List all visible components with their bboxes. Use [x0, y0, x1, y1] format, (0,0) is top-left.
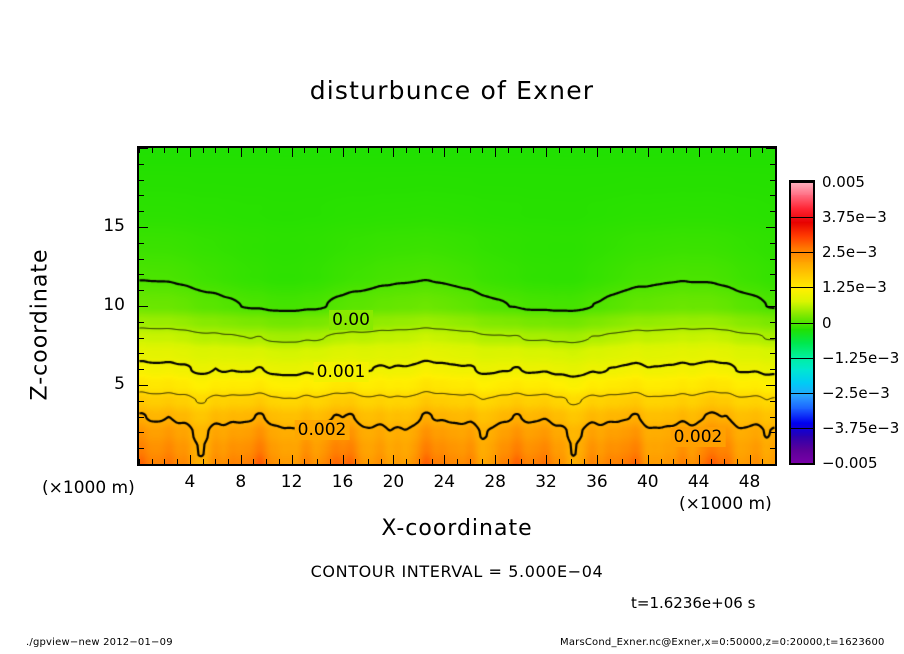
colorbar-separator: [791, 182, 813, 183]
x-tick-top: [368, 148, 369, 153]
colorbar-band: [791, 249, 813, 263]
contour-plot-area: [137, 146, 777, 466]
x-tick-minor: [279, 459, 280, 464]
y-tick-left: [139, 322, 144, 323]
x-tick-top: [406, 148, 407, 153]
colorbar-tick-label: −1.25e−3: [822, 349, 899, 367]
x-tick-top: [750, 148, 751, 157]
x-tick-minor: [775, 459, 776, 464]
x-tick-top: [559, 148, 560, 153]
colorbar-band: [791, 423, 813, 437]
x-tick-minor: [406, 459, 407, 464]
colorbar: [789, 180, 815, 465]
y-tick-right: [766, 385, 775, 386]
x-tick-minor: [508, 459, 509, 464]
y-tick-left: [139, 180, 144, 181]
y-tick-right: [770, 432, 775, 433]
x-tick-top: [470, 148, 471, 153]
colorbar-band: [791, 182, 813, 196]
y-tick-left: [139, 259, 144, 260]
x-tick-top: [546, 148, 547, 157]
y-tick-left: [139, 164, 144, 165]
contour-label: 0.002: [295, 420, 350, 440]
contour-label: 0.00: [329, 310, 373, 330]
y-tick-left: [139, 211, 144, 212]
x-tick-top: [266, 148, 267, 153]
y-tick-right: [770, 322, 775, 323]
x-tick-top: [775, 148, 776, 153]
x-tick-minor: [648, 455, 649, 464]
x-tick-minor: [215, 459, 216, 464]
y-tick-left: [139, 195, 144, 196]
x-tick-minor: [190, 455, 191, 464]
x-tick-minor: [533, 459, 534, 464]
y-axis-unit: (×1000 m): [42, 478, 135, 498]
y-tick-left: [139, 369, 144, 370]
y-tick-right: [770, 369, 775, 370]
timestamp-text: t=1.6236e+06 s: [631, 594, 755, 612]
x-tick-top: [152, 148, 153, 153]
colorbar-tick-label: 3.75e−3: [822, 208, 887, 226]
colorbar-band: [791, 396, 813, 410]
colorbar-band: [791, 329, 813, 343]
x-tick-top: [661, 148, 662, 153]
colorbar-separator: [791, 428, 813, 429]
x-tick-top: [635, 148, 636, 153]
colorbar-separator: [791, 217, 813, 218]
x-tick-top: [648, 148, 649, 157]
x-tick-minor: [432, 459, 433, 464]
x-tick-top: [355, 148, 356, 153]
x-tick-minor: [393, 455, 394, 464]
x-tick-minor: [546, 455, 547, 464]
colorbar-band: [791, 236, 813, 250]
x-tick-minor: [164, 459, 165, 464]
x-tick-minor: [482, 459, 483, 464]
y-tick-right: [770, 290, 775, 291]
x-tick-minor: [177, 459, 178, 464]
x-axis-unit: (×1000 m): [679, 494, 772, 514]
x-tick-top: [622, 148, 623, 153]
x-tick-top: [597, 148, 598, 157]
x-tick-top: [241, 148, 242, 157]
x-tick-top: [533, 148, 534, 153]
y-tick-right: [766, 148, 775, 149]
colorbar-separator: [791, 323, 813, 324]
y-tick-right: [770, 274, 775, 275]
x-tick-top: [699, 148, 700, 157]
x-tick-label: 48: [720, 472, 780, 492]
y-tick-left: [139, 306, 148, 307]
y-tick-left: [139, 274, 144, 275]
y-axis-title: Z-coordinate: [28, 225, 53, 425]
x-tick-minor: [622, 459, 623, 464]
x-tick-minor: [253, 459, 254, 464]
colorbar-band: [791, 289, 813, 303]
x-tick-minor: [355, 459, 356, 464]
x-tick-top: [508, 148, 509, 153]
page-title: disturbunce of Exner: [0, 76, 904, 105]
y-tick-left: [139, 353, 144, 354]
x-tick-minor: [711, 459, 712, 464]
x-tick-top: [164, 148, 165, 153]
x-tick-minor: [228, 459, 229, 464]
y-tick-left: [139, 448, 144, 449]
y-tick-right: [770, 180, 775, 181]
x-tick-top: [215, 148, 216, 153]
colorbar-separator: [791, 463, 813, 464]
y-tick-right: [766, 306, 775, 307]
x-tick-top: [292, 148, 293, 157]
colorbar-band: [791, 209, 813, 223]
x-tick-minor: [330, 459, 331, 464]
x-tick-minor: [737, 459, 738, 464]
x-tick-top: [444, 148, 445, 157]
x-tick-minor: [584, 459, 585, 464]
x-tick-top: [228, 148, 229, 153]
y-tick-right: [770, 259, 775, 260]
y-tick-left: [139, 417, 144, 418]
y-tick-left: [139, 243, 144, 244]
x-tick-top: [457, 148, 458, 153]
x-tick-minor: [203, 459, 204, 464]
colorbar-band: [791, 262, 813, 276]
x-tick-minor: [419, 459, 420, 464]
y-tick-left: [139, 432, 144, 433]
y-tick-left: [139, 464, 144, 465]
x-tick-minor: [495, 455, 496, 464]
x-tick-top: [177, 148, 178, 153]
y-tick-left: [139, 290, 144, 291]
x-tick-minor: [661, 459, 662, 464]
y-tick-right: [770, 401, 775, 402]
contour-interval-text: CONTOUR INTERVAL = 5.000E−04: [137, 562, 777, 581]
contour-label: 0.002: [671, 427, 726, 447]
y-tick-right: [770, 417, 775, 418]
x-tick-top: [203, 148, 204, 153]
y-tick-left: [139, 148, 148, 149]
y-tick-right: [770, 164, 775, 165]
x-tick-top: [419, 148, 420, 153]
colorbar-band: [791, 195, 813, 209]
x-tick-minor: [368, 459, 369, 464]
y-tick-right: [770, 448, 775, 449]
colorbar-band: [791, 409, 813, 423]
x-axis-title: X-coordinate: [137, 516, 777, 541]
colorbar-band: [791, 383, 813, 397]
x-tick-minor: [699, 455, 700, 464]
x-tick-minor: [762, 459, 763, 464]
contour-label: 0.001: [314, 362, 369, 382]
colorbar-band: [791, 343, 813, 357]
y-tick-left: [139, 338, 144, 339]
x-tick-minor: [610, 459, 611, 464]
colorbar-tick-label: −3.75e−3: [822, 419, 899, 437]
x-tick-minor: [559, 459, 560, 464]
x-tick-top: [253, 148, 254, 153]
x-tick-top: [343, 148, 344, 157]
y-tick-label: 5: [81, 374, 125, 394]
x-tick-top: [190, 148, 191, 157]
x-tick-top: [381, 148, 382, 153]
x-tick-top: [495, 148, 496, 157]
x-tick-top: [711, 148, 712, 153]
x-tick-top: [571, 148, 572, 153]
x-tick-minor: [571, 459, 572, 464]
colorbar-tick-label: 2.5e−3: [822, 243, 877, 261]
x-tick-minor: [266, 459, 267, 464]
x-tick-top: [432, 148, 433, 153]
colorbar-separator: [791, 287, 813, 288]
x-tick-top: [330, 148, 331, 153]
x-tick-minor: [635, 459, 636, 464]
x-tick-minor: [470, 459, 471, 464]
x-tick-top: [521, 148, 522, 153]
colorbar-tick-label: 0.005: [822, 173, 865, 191]
x-tick-minor: [444, 455, 445, 464]
x-tick-top: [393, 148, 394, 157]
x-tick-minor: [304, 459, 305, 464]
colorbar-tick-label: 0: [822, 314, 832, 332]
colorbar-band: [791, 302, 813, 316]
contour-field: [139, 148, 775, 464]
x-tick-minor: [381, 459, 382, 464]
x-tick-minor: [686, 459, 687, 464]
y-tick-right: [770, 195, 775, 196]
colorbar-tick-label: −2.5e−3: [822, 384, 890, 402]
y-tick-left: [139, 227, 148, 228]
y-tick-right: [770, 211, 775, 212]
colorbar-tick-label: 1.25e−3: [822, 278, 887, 296]
x-tick-minor: [724, 459, 725, 464]
y-tick-right: [766, 227, 775, 228]
x-tick-top: [724, 148, 725, 153]
x-tick-top: [762, 148, 763, 153]
x-tick-minor: [750, 455, 751, 464]
x-tick-minor: [343, 455, 344, 464]
footer-right: MarsCond_Exner.nc@Exner,x=0:50000,z=0:20…: [560, 637, 885, 648]
x-tick-minor: [152, 459, 153, 464]
x-tick-top: [279, 148, 280, 153]
y-tick-left: [139, 385, 148, 386]
x-tick-minor: [241, 455, 242, 464]
y-tick-right: [770, 353, 775, 354]
x-tick-top: [686, 148, 687, 153]
x-tick-minor: [597, 455, 598, 464]
y-tick-left: [139, 401, 144, 402]
y-tick-label: 15: [81, 216, 125, 236]
y-tick-right: [770, 338, 775, 339]
x-tick-minor: [457, 459, 458, 464]
x-tick-top: [482, 148, 483, 153]
x-tick-minor: [317, 459, 318, 464]
y-tick-label: 10: [81, 295, 125, 315]
colorbar-separator: [791, 252, 813, 253]
colorbar-band: [791, 369, 813, 383]
x-tick-top: [673, 148, 674, 153]
y-tick-right: [770, 464, 775, 465]
x-tick-top: [610, 148, 611, 153]
colorbar-band: [791, 222, 813, 236]
footer-left: ./gpview−new 2012−01−09: [26, 637, 173, 648]
colorbar-tick-label: −0.005: [822, 454, 878, 472]
colorbar-separator: [791, 393, 813, 394]
colorbar-gradient: [789, 180, 815, 465]
x-tick-top: [317, 148, 318, 153]
x-tick-top: [584, 148, 585, 153]
x-tick-top: [737, 148, 738, 153]
x-tick-minor: [521, 459, 522, 464]
x-tick-minor: [673, 459, 674, 464]
x-tick-top: [304, 148, 305, 153]
colorbar-band: [791, 436, 813, 450]
x-tick-minor: [292, 455, 293, 464]
colorbar-band: [791, 450, 813, 464]
colorbar-separator: [791, 358, 813, 359]
y-tick-right: [770, 243, 775, 244]
